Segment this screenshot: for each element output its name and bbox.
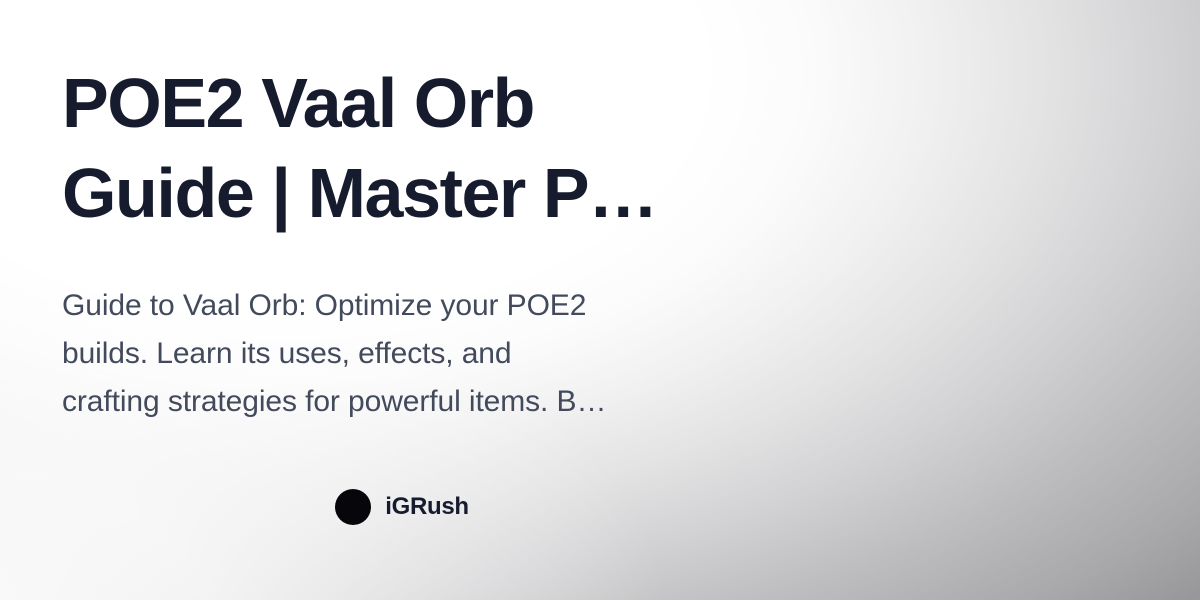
page-description: Guide to Vaal Orb: Optimize your POE2 bu… [62, 282, 762, 426]
page-title: POE2 Vaal Orb Guide | Master P… [62, 58, 734, 238]
open-graph-preview-card: POE2 Vaal Orb Guide | Master P… Guide to… [0, 0, 1200, 600]
brand-name-label: iGRush [385, 489, 469, 525]
brand-lockup: iGRush [62, 486, 742, 528]
card-content: POE2 Vaal Orb Guide | Master P… Guide to… [62, 0, 742, 600]
filled-circle-icon [335, 489, 371, 525]
